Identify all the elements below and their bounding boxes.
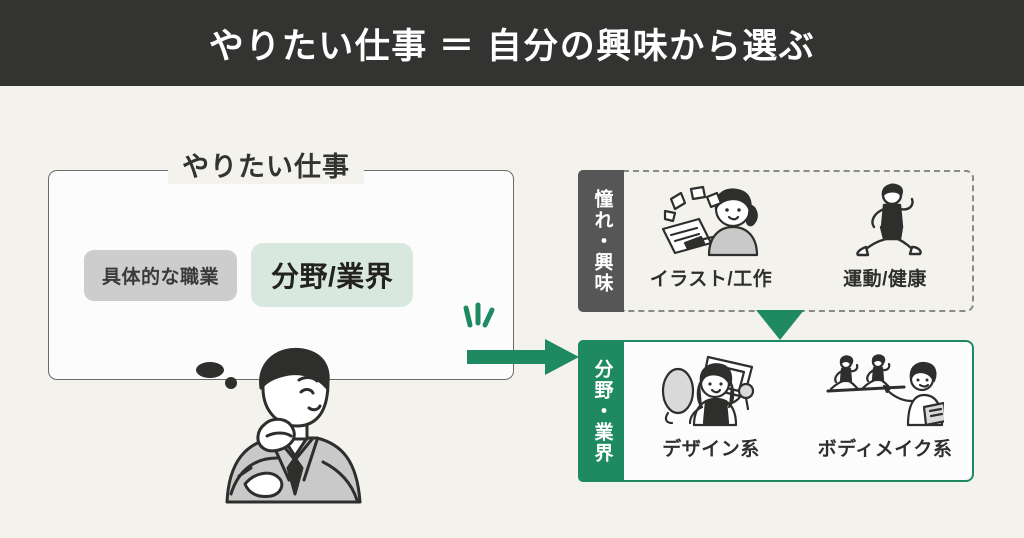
option-pill-row: 具体的な職業 分野/業界 [84, 243, 413, 307]
arrow-right-icon [467, 339, 579, 375]
item-label-exercise-health: 運動/健康 [843, 264, 927, 291]
bunya-gyokai-box: 分野・業界 [578, 340, 974, 482]
person-drawing-illustration-icon [657, 182, 765, 258]
item-bodymake-field[interactable]: ボディメイク系 [805, 342, 965, 461]
item-label-illustration-craft: イラスト/工作 [650, 264, 772, 291]
tab-bunya-gyokai: 分野・業界 [578, 340, 624, 482]
person-running-illustration-icon [840, 182, 930, 258]
arrow-down-icon [756, 310, 804, 342]
akogare-kyomi-box: 憧れ・興味 [578, 170, 974, 312]
option-pill-field-industry[interactable]: 分野/業界 [251, 243, 413, 307]
trainer-with-runners-illustration-icon [826, 352, 944, 428]
left-panel-legend: やりたい仕事 [168, 145, 364, 184]
tab-akogare-kyomi: 憧れ・興味 [578, 170, 624, 312]
thinking-businessman-illustration [205, 344, 385, 504]
page-header: やりたい仕事 ＝ 自分の興味から選ぶ [0, 0, 1024, 86]
diagram-stage: やりたい仕事 具体的な職業 分野/業界 [0, 86, 1024, 538]
item-design-field[interactable]: デザイン系 [631, 342, 791, 461]
item-exercise-health[interactable]: 運動/健康 [805, 172, 965, 291]
sparkle-icon [459, 302, 501, 336]
akogare-kyomi-items: イラスト/工作 [622, 170, 974, 312]
item-label-design-field: デザイン系 [662, 434, 760, 461]
bunya-gyokai-items: デザイン系 [622, 340, 974, 482]
designer-with-mirror-illustration-icon [656, 352, 766, 428]
option-pill-specific-job[interactable]: 具体的な職業 [84, 250, 237, 301]
item-illustration-craft[interactable]: イラスト/工作 [631, 172, 791, 291]
page-title: やりたい仕事 ＝ 自分の興味から選ぶ [209, 18, 815, 69]
item-label-bodymake-field: ボディメイク系 [818, 434, 953, 461]
